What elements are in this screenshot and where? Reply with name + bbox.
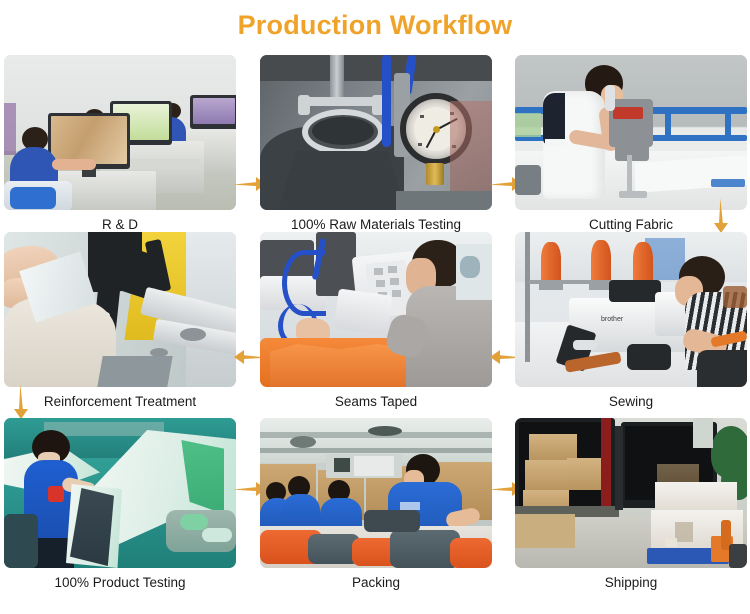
workflow-step-packing[interactable]: Packing [260, 418, 492, 590]
caption-reinforcement-treatment: Reinforcement Treatment [4, 394, 236, 409]
workflow-step-product-testing[interactable]: 100% Product Testing [4, 418, 236, 590]
photo-seams-taped [260, 232, 492, 387]
arrow-reinforcement-to-product-testing [12, 384, 30, 420]
workflow-row-3: 100% Product Testing [0, 418, 750, 614]
workflow-step-seams-taped[interactable]: Seams Taped [260, 232, 492, 409]
arrow-cutting-to-sewing [712, 198, 730, 234]
workflow-step-reinforcement-treatment[interactable]: Reinforcement Treatment [4, 232, 236, 409]
caption-product-testing: 100% Product Testing [4, 575, 236, 590]
production-workflow-infographic: Production Workflow [0, 0, 750, 614]
photo-packing [260, 418, 492, 568]
photo-sewing: brother [515, 232, 747, 387]
workflow-step-shipping[interactable]: Shipping [515, 418, 747, 590]
page-title: Production Workflow [0, 10, 750, 41]
caption-seams-taped: Seams Taped [260, 394, 492, 409]
photo-reinforcement-treatment [4, 232, 236, 387]
workflow-step-sewing[interactable]: brother Sewing [515, 232, 747, 409]
caption-rd: R & D [4, 217, 236, 232]
caption-packing: Packing [260, 575, 492, 590]
caption-raw-materials-testing: 100% Raw Materials Testing [260, 217, 492, 232]
workflow-step-raw-materials-testing[interactable]: 100% Raw Materials Testing [260, 55, 492, 232]
machine-brand-label: brother [601, 316, 623, 323]
photo-cutting-fabric [515, 55, 747, 210]
photo-rd [4, 55, 236, 210]
caption-sewing: Sewing [515, 394, 747, 409]
photo-raw-materials-testing [260, 55, 492, 210]
workflow-step-rd[interactable]: R & D [4, 55, 236, 232]
workflow-row-1: R & D [0, 55, 750, 235]
photo-shipping [515, 418, 747, 568]
workflow-row-2: Reinforcement Treatment [0, 232, 750, 412]
caption-shipping: Shipping [515, 575, 747, 590]
photo-product-testing [4, 418, 236, 568]
